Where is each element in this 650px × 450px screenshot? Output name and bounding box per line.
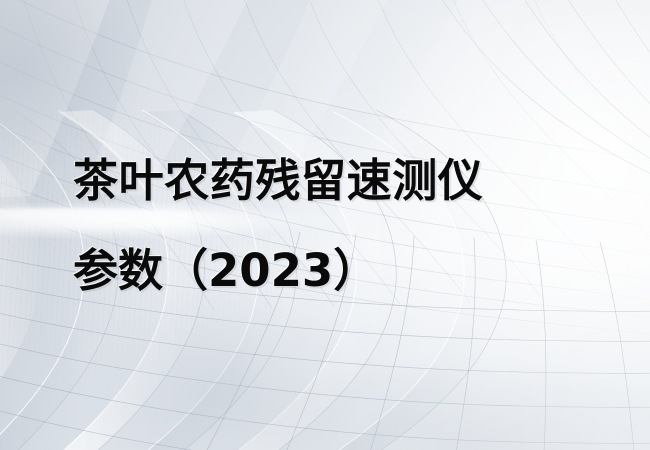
banner-title-line-1: 茶叶农药残留速测仪: [73, 136, 613, 226]
banner-title: 茶叶农药残留速测仪 参数（2023）: [73, 136, 613, 316]
title-banner: 茶叶农药残留速测仪 参数（2023）: [0, 0, 650, 450]
banner-title-line-2: 参数（2023）: [73, 226, 613, 316]
